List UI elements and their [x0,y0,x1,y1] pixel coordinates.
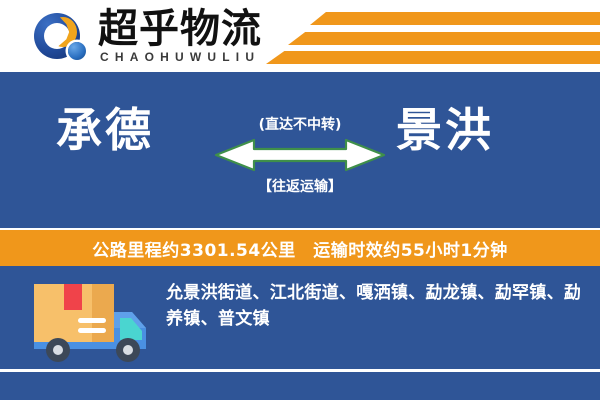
header-stripe-1 [310,12,600,25]
logo-dot-icon [68,42,86,60]
origin-city-label: 承德 [56,102,154,158]
brand-name-chinese: 超乎物流 [98,8,262,50]
route-hero-section: 承德 (直达不中转) 【往返运输】 景洪 [0,72,600,228]
brand-name-pinyin: CHAOHUWULIU [100,50,260,64]
ground-divider-line [0,369,600,372]
header-stripe-3 [266,51,600,64]
coverage-area-text: 允景洪街道、江北街道、嘎洒镇、勐龙镇、勐罕镇、勐养镇、普文镇 [166,280,586,332]
delivery-truck-icon [26,278,156,364]
destination-city-label: 景洪 [396,102,494,158]
distance-duration-bar: 公路里程约3301.54公里 运输时效约55小时1分钟 [0,230,600,266]
distance-duration-text: 公路里程约3301.54公里 运输时效约55小时1分钟 [92,236,507,261]
header-stripe-2 [288,32,600,45]
route-roundtrip-note: 【往返运输】 [210,176,390,196]
logistics-route-banner: 超乎物流 CHAOHUWULIU 承德 (直达不中转) 【往返运输】 景洪 公路… [0,0,600,400]
coverage-footer-section: 允景洪街道、江北街道、嘎洒镇、勐龙镇、勐罕镇、勐养镇、普文镇 [0,266,600,400]
route-direct-note: (直达不中转) [210,114,390,134]
banner-header: 超乎物流 CHAOHUWULIU [0,0,600,72]
double-headed-arrow-icon [214,138,386,172]
route-indicator: (直达不中转) 【往返运输】 [210,114,390,214]
chaohu-logo-mark [32,12,94,68]
